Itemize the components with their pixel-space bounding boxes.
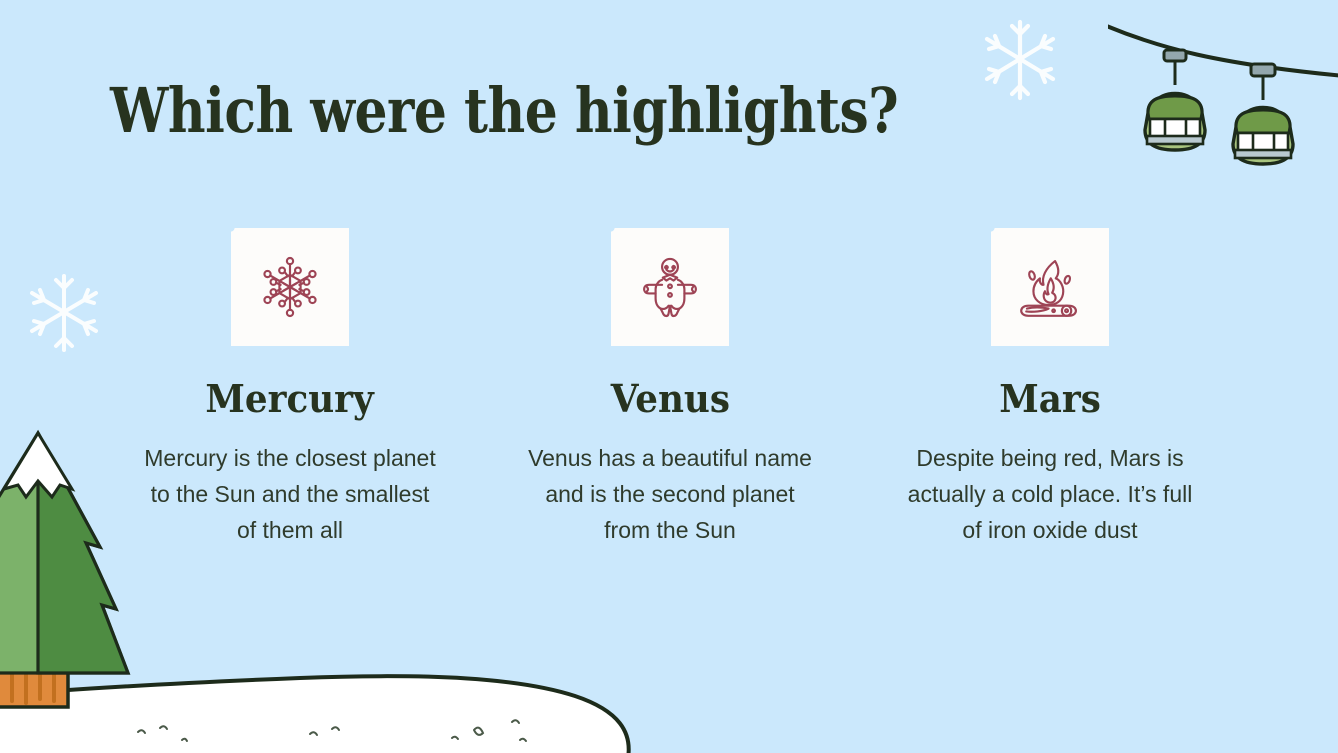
icon-card-mars [991, 228, 1109, 346]
slide-canvas: Which were the highlights? [0, 0, 1338, 753]
column-body-mercury: Mercury is the closest planet to the Sun… [140, 440, 440, 549]
icon-card-venus [611, 228, 729, 346]
page-title: Which were the highlights? [110, 78, 898, 143]
column-heading-mercury: Mercury [206, 378, 374, 420]
highlights-columns: Mercury Mercury is the closest planet to… [140, 228, 1200, 549]
column-mercury: Mercury Mercury is the closest planet to… [140, 228, 440, 549]
cable-car-illustration [1108, 0, 1338, 175]
snowflake-decoration-top [965, 6, 1075, 111]
column-mars: Mars Despite being red, Mars is actually… [900, 228, 1200, 549]
icon-card-mercury [231, 228, 349, 346]
column-venus: Venus Venus has a beautiful name and is … [520, 228, 820, 549]
snow-bank-illustration [0, 648, 700, 753]
column-heading-mars: Mars [999, 378, 1101, 420]
campfire-icon [1014, 251, 1086, 323]
column-body-mars: Despite being red, Mars is actually a co… [900, 440, 1200, 549]
snowflake-decoration-left [12, 262, 117, 362]
column-heading-venus: Venus [610, 378, 729, 420]
gingerbread-man-icon [634, 251, 706, 323]
column-body-venus: Venus has a beautiful name and is the se… [520, 440, 820, 549]
snowflake-icon [254, 251, 326, 323]
